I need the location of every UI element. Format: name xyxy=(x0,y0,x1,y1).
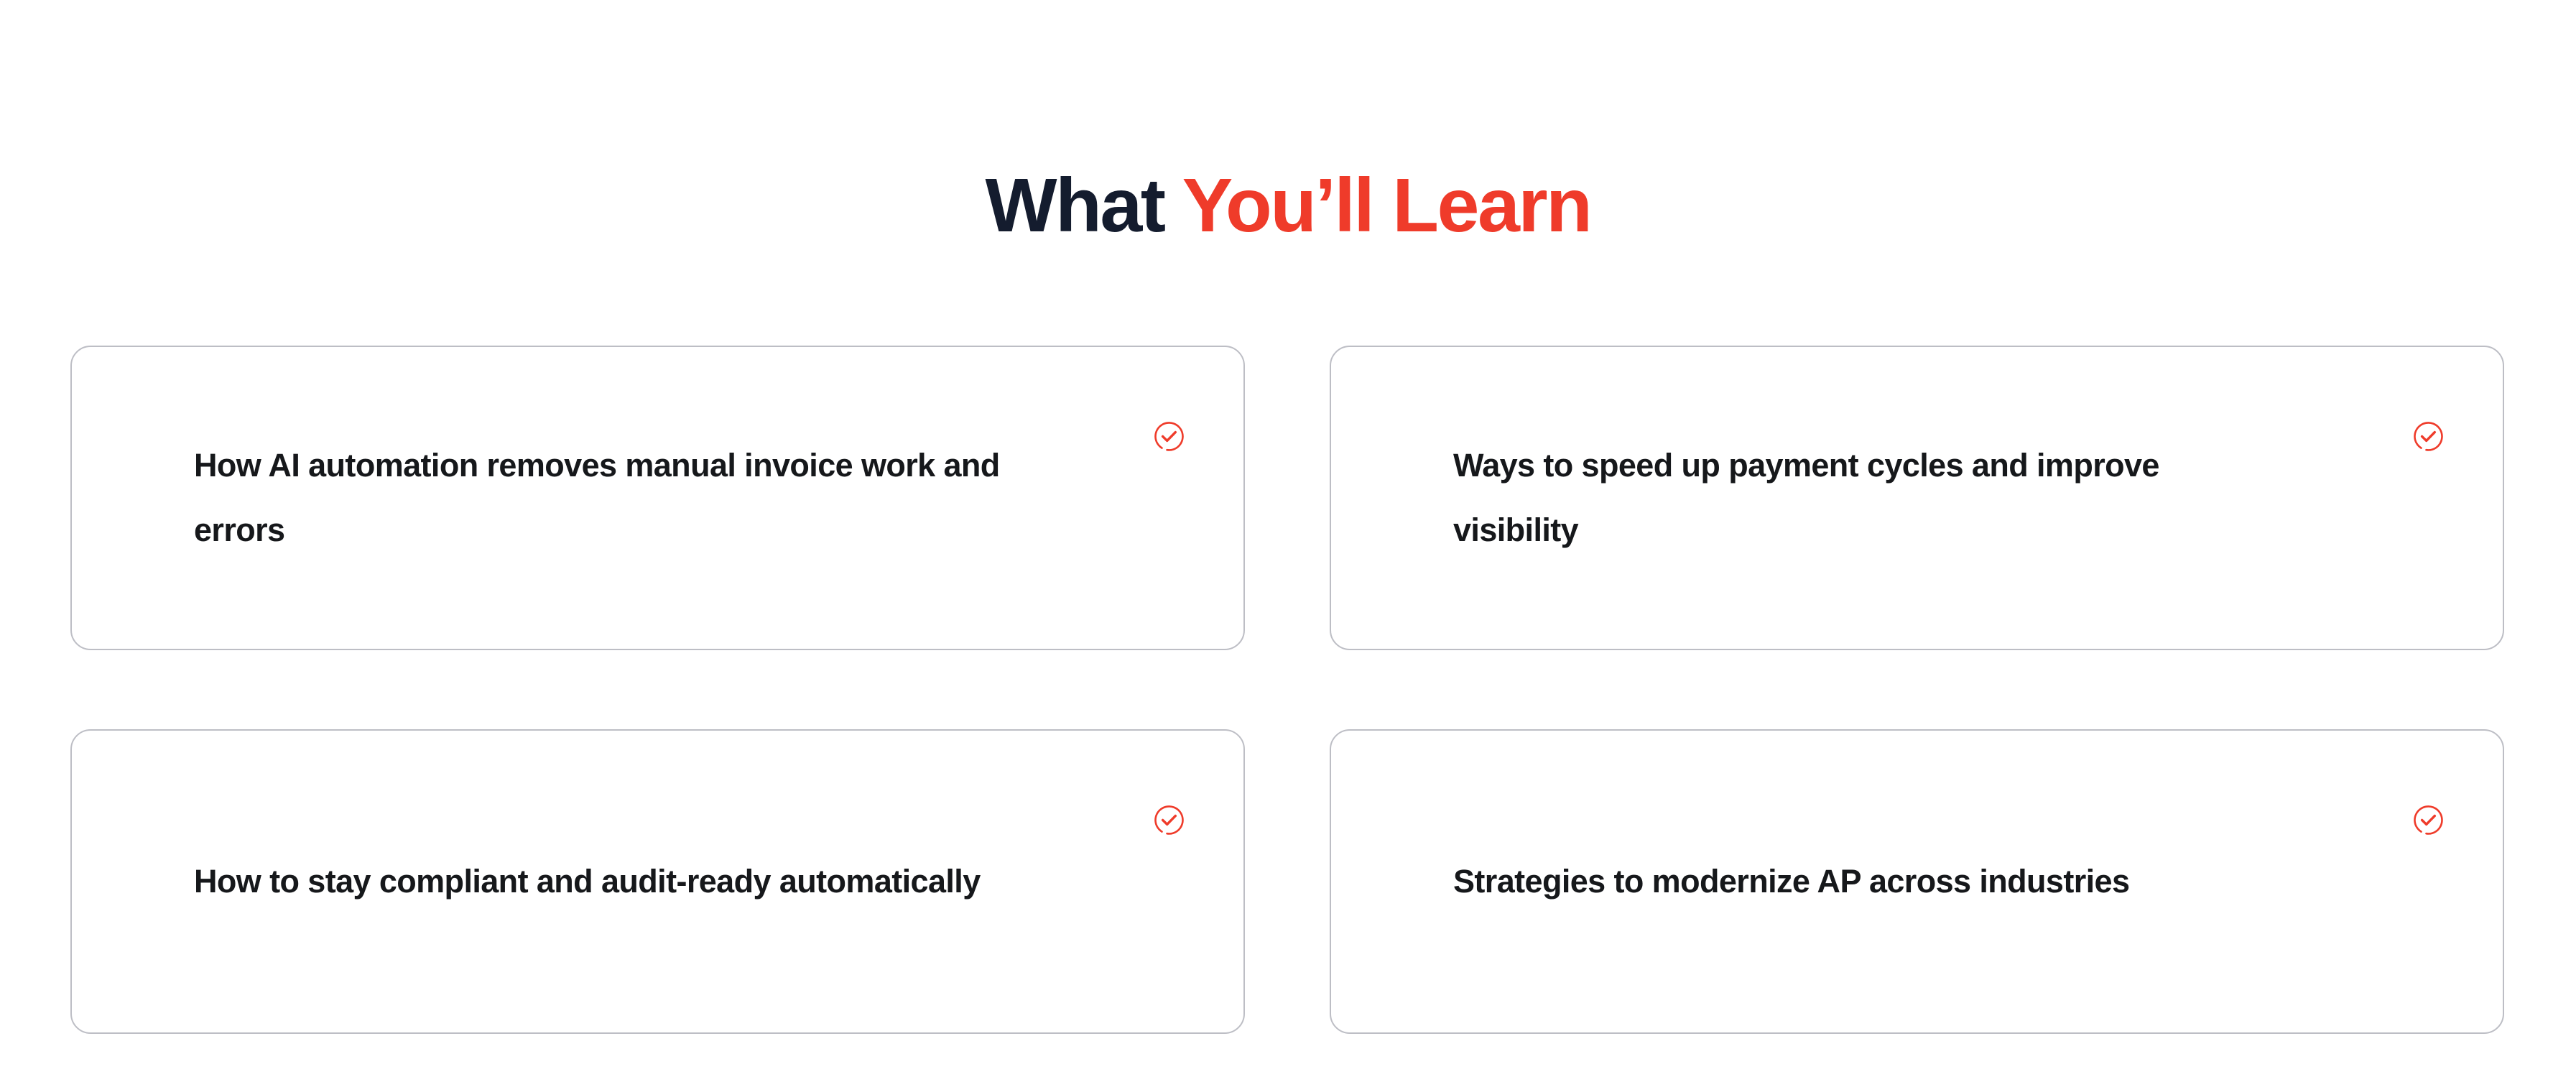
circle-check-icon xyxy=(2411,419,2445,453)
learning-card-compliance[interactable]: How to stay compliant and audit-ready au… xyxy=(70,729,1245,1034)
learning-card-payment-cycles[interactable]: Ways to speed up payment cycles and impr… xyxy=(1330,346,2504,650)
learning-card-label: How to stay compliant and audit-ready au… xyxy=(72,849,1218,914)
circle-check-icon xyxy=(1152,419,1186,453)
learning-card-label: Ways to speed up payment cycles and impr… xyxy=(1331,433,2503,563)
learning-points-grid: How AI automation removes manual invoice… xyxy=(70,346,2504,1034)
page-title: What You’ll Learn xyxy=(0,162,2576,249)
page-title-accent: You’ll Learn xyxy=(1182,163,1591,248)
learning-card-label: How AI automation removes manual invoice… xyxy=(72,433,1243,563)
learning-outcomes-section: What You’ll Learn How AI automation remo… xyxy=(0,0,2576,1082)
learning-card-label: Strategies to modernize AP across indust… xyxy=(1331,849,2366,914)
learning-card-ai-automation[interactable]: How AI automation removes manual invoice… xyxy=(70,346,1245,650)
circle-check-icon xyxy=(2411,803,2445,837)
page-title-primary: What xyxy=(986,163,1182,248)
learning-card-modernize-ap[interactable]: Strategies to modernize AP across indust… xyxy=(1330,729,2504,1034)
circle-check-icon xyxy=(1152,803,1186,837)
